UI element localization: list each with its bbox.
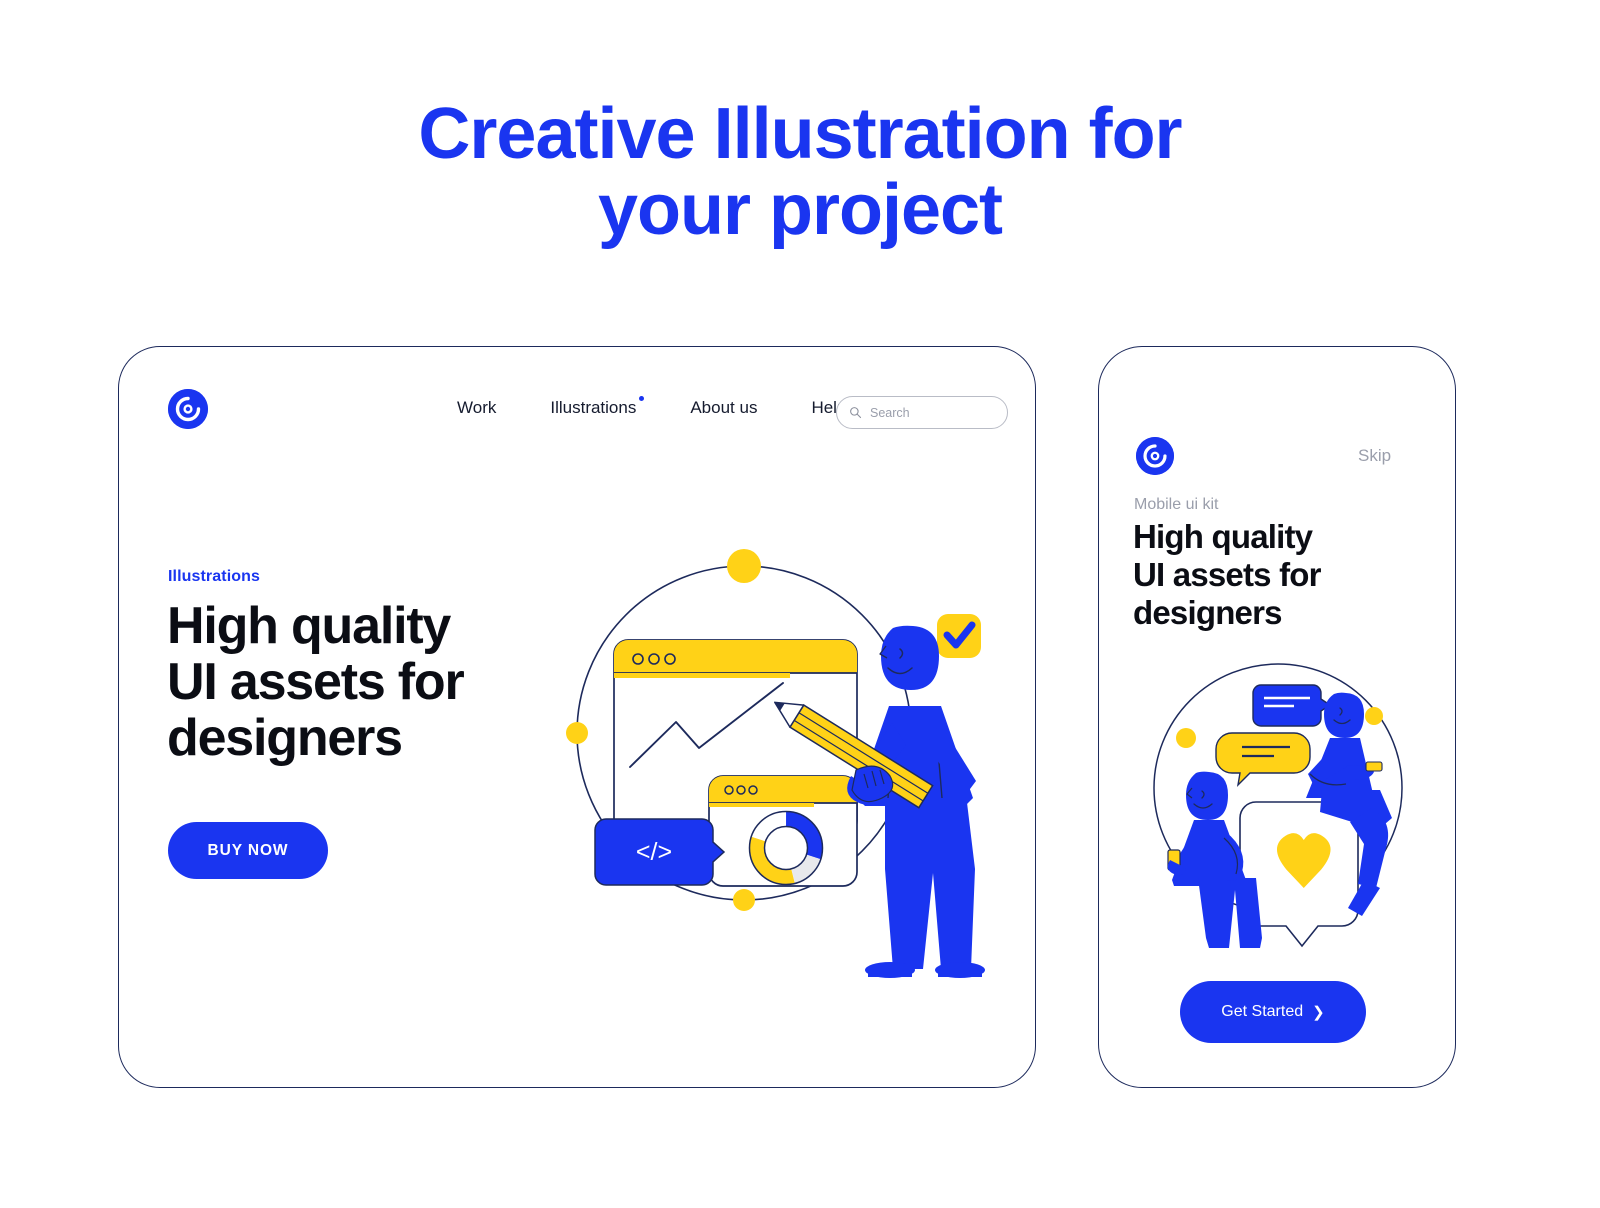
chevron-right-icon: ❯ — [1312, 1003, 1325, 1021]
search-placeholder: Search — [870, 406, 910, 420]
get-started-button[interactable]: Get Started ❯ — [1180, 981, 1366, 1043]
headline-line-3: designers — [1133, 594, 1321, 632]
checkmark-badge — [937, 614, 981, 658]
headline-line-2: UI assets for — [1133, 556, 1321, 594]
nav-item-label: Work — [457, 398, 496, 417]
blue-chat-bubble — [1253, 685, 1330, 726]
svg-text:</>: </> — [636, 838, 672, 866]
nav-item-about-us[interactable]: About us — [663, 398, 784, 418]
target-spiral-logo-icon[interactable] — [168, 389, 208, 429]
desktop-navigation: Work Illustrations About us Help — [430, 398, 873, 418]
headline-line-2: UI assets for — [167, 654, 464, 710]
two-people-chatting-illustration — [1128, 648, 1428, 948]
nav-item-illustrations[interactable]: Illustrations — [523, 398, 663, 418]
nav-item-work[interactable]: Work — [430, 398, 523, 418]
code-tag-bubble: </> — [595, 819, 724, 885]
yellow-dot-left — [566, 722, 588, 744]
search-input[interactable]: Search — [836, 396, 1008, 429]
nav-active-dot-icon — [639, 396, 644, 401]
mobile-headline: High quality UI assets for designers — [1133, 518, 1321, 632]
get-started-label: Get Started — [1221, 1003, 1303, 1021]
search-icon — [849, 406, 862, 419]
yellow-dot-left — [1176, 728, 1196, 748]
yellow-dot-right — [1365, 707, 1383, 725]
buy-now-button[interactable]: BUY NOW — [168, 822, 328, 879]
headline-line-1: High quality — [1133, 518, 1321, 556]
yellow-dot-bottom — [733, 889, 755, 911]
headline-line-3: designers — [167, 710, 464, 766]
skip-link[interactable]: Skip — [1358, 446, 1391, 466]
mobile-eyebrow: Mobile ui kit — [1134, 496, 1218, 514]
desktop-headline: High quality UI assets for designers — [167, 598, 464, 766]
page-title-line-2: your project — [0, 172, 1600, 248]
yellow-chat-bubble — [1216, 733, 1310, 785]
browser-window-donut-chart — [709, 776, 857, 886]
poster-canvas: Creative Illustration for your project W… — [0, 0, 1600, 1208]
nav-item-label: About us — [690, 398, 757, 417]
yellow-dot-top — [727, 549, 761, 583]
page-title-line-1: Creative Illustration for — [0, 96, 1600, 172]
page-title: Creative Illustration for your project — [0, 96, 1600, 248]
nav-item-label: Illustrations — [550, 398, 636, 417]
headline-line-1: High quality — [167, 598, 464, 654]
target-spiral-logo-icon[interactable] — [1136, 437, 1174, 475]
designer-with-pencil-illustration: </> — [548, 518, 1000, 978]
desktop-eyebrow: Illustrations — [168, 568, 260, 586]
